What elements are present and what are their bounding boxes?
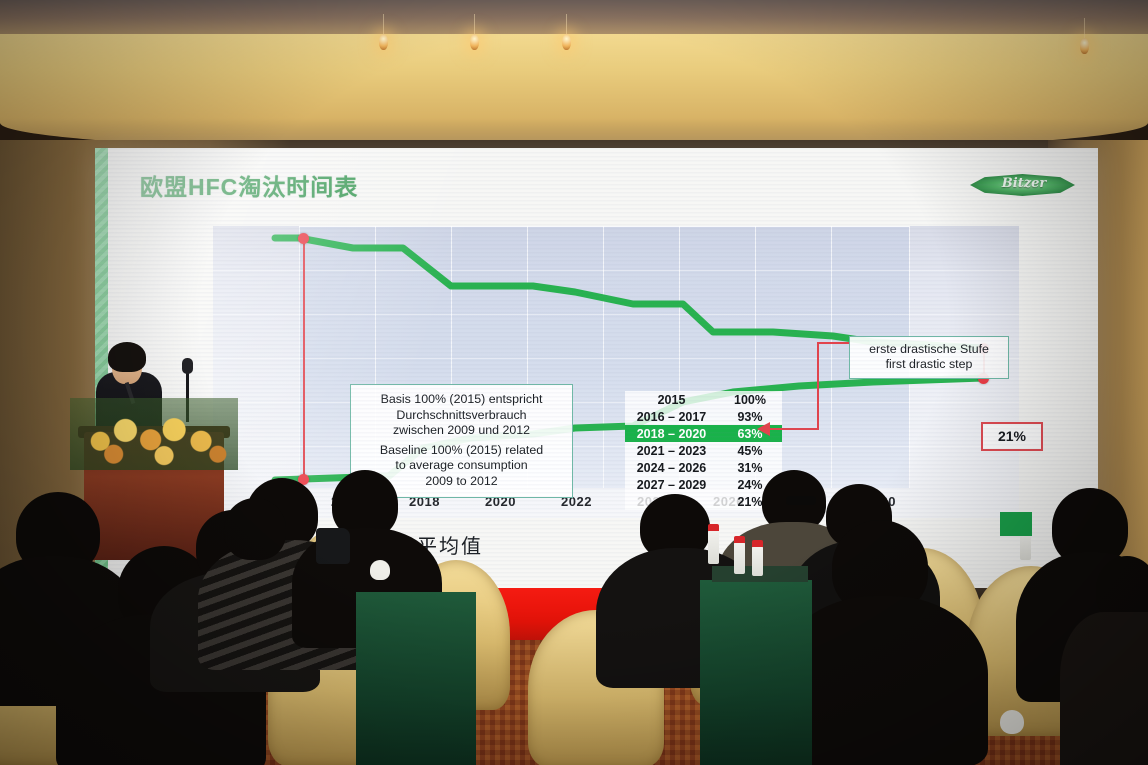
water-bottle — [708, 530, 719, 564]
cell-value: 31% — [718, 459, 782, 476]
cell-period: 2021 – 2023 — [625, 442, 718, 459]
audience-shoulders — [1060, 612, 1148, 765]
series-remaining-quota — [275, 238, 983, 348]
light-track — [432, 6, 582, 11]
cell-value: 93% — [718, 408, 782, 425]
lamp-rod — [1084, 18, 1085, 40]
bottle-cap — [752, 540, 763, 547]
speaker-hair — [108, 342, 146, 372]
table-skirt — [356, 592, 476, 765]
light-track — [1010, 10, 1148, 15]
table-row: 2015 100% — [625, 391, 782, 408]
thermos — [316, 528, 350, 564]
end-value-badge: 21% — [981, 422, 1043, 451]
cell-period: 2016 – 2017 — [625, 408, 718, 425]
callout-line: Baseline 100% (2015) related — [357, 443, 566, 459]
ceiling-cove-light — [0, 34, 1148, 154]
screenshot-root: 欧盟HFC淘汰时间表 Bitzer — [0, 0, 1148, 765]
callout-first-drastic-step: erste drastische Stufe first drastic ste… — [849, 336, 1009, 379]
table-row: 2027 – 2029 24% — [625, 476, 782, 493]
lamp-rod — [383, 14, 384, 36]
phasedown-table: 2015 100% 2016 – 2017 93% 2018 – 2020 63… — [625, 391, 782, 510]
reference-line-2015 — [303, 242, 305, 480]
cell-value: 100% — [718, 391, 782, 408]
lamp-rod — [566, 14, 567, 36]
arrow-head-icon — [757, 422, 770, 436]
bottle-cap — [734, 536, 745, 543]
page-title: 欧盟HFC淘汰时间表 — [140, 168, 358, 202]
callout-line: erste drastische Stufe — [854, 342, 1004, 357]
callout-line: first drastic step — [854, 357, 1004, 372]
spotlight — [1080, 38, 1089, 54]
eyeglasses — [786, 496, 816, 505]
flower-arrangement — [70, 398, 238, 470]
callout-line: Durchschnittsverbrauch — [357, 408, 566, 424]
teacup — [370, 560, 390, 580]
spotlight — [470, 34, 479, 50]
lamp-rod — [474, 14, 475, 36]
cell-period: 2015 — [625, 391, 718, 408]
table-body: 2015 100% 2016 – 2017 93% 2018 – 2020 63… — [625, 391, 782, 510]
callout-line: Basis 100% (2015) entspricht — [357, 392, 566, 408]
logo-wordmark: Bitzer — [996, 176, 1052, 191]
spotlight — [562, 34, 571, 50]
green-sign — [1000, 512, 1032, 536]
table-skirt — [700, 580, 812, 765]
bottle-cap — [708, 524, 719, 531]
arrow-segment-h2 — [769, 428, 819, 430]
hfc-phasedown-chart: 2015 2016 2018 2020 2022 2024 2026 2028 … — [213, 226, 1019, 518]
water-bottle — [1020, 532, 1031, 560]
cell-period: 2027 – 2029 — [625, 476, 718, 493]
callout-line: zwischen 2009 und 2012 — [357, 423, 566, 439]
marker-2015-top — [298, 233, 309, 244]
callout-line: to average consumption — [357, 458, 566, 474]
spotlight — [379, 34, 388, 50]
arrow-segment-v — [817, 342, 819, 430]
cell-period: 2024 – 2026 — [625, 459, 718, 476]
table-row: 2024 – 2026 31% — [625, 459, 782, 476]
water-bottle — [752, 546, 763, 576]
water-bottle — [734, 542, 745, 574]
mic-capsule — [182, 358, 193, 374]
table-row: 2021 – 2023 45% — [625, 442, 782, 459]
cell-value: 45% — [718, 442, 782, 459]
audience-head — [224, 498, 286, 560]
teacup — [1000, 710, 1024, 734]
arrow-segment-h1 — [817, 342, 849, 344]
bitzer-logo: Bitzer — [970, 170, 1075, 200]
cell-period: 2018 – 2020 — [625, 425, 718, 442]
